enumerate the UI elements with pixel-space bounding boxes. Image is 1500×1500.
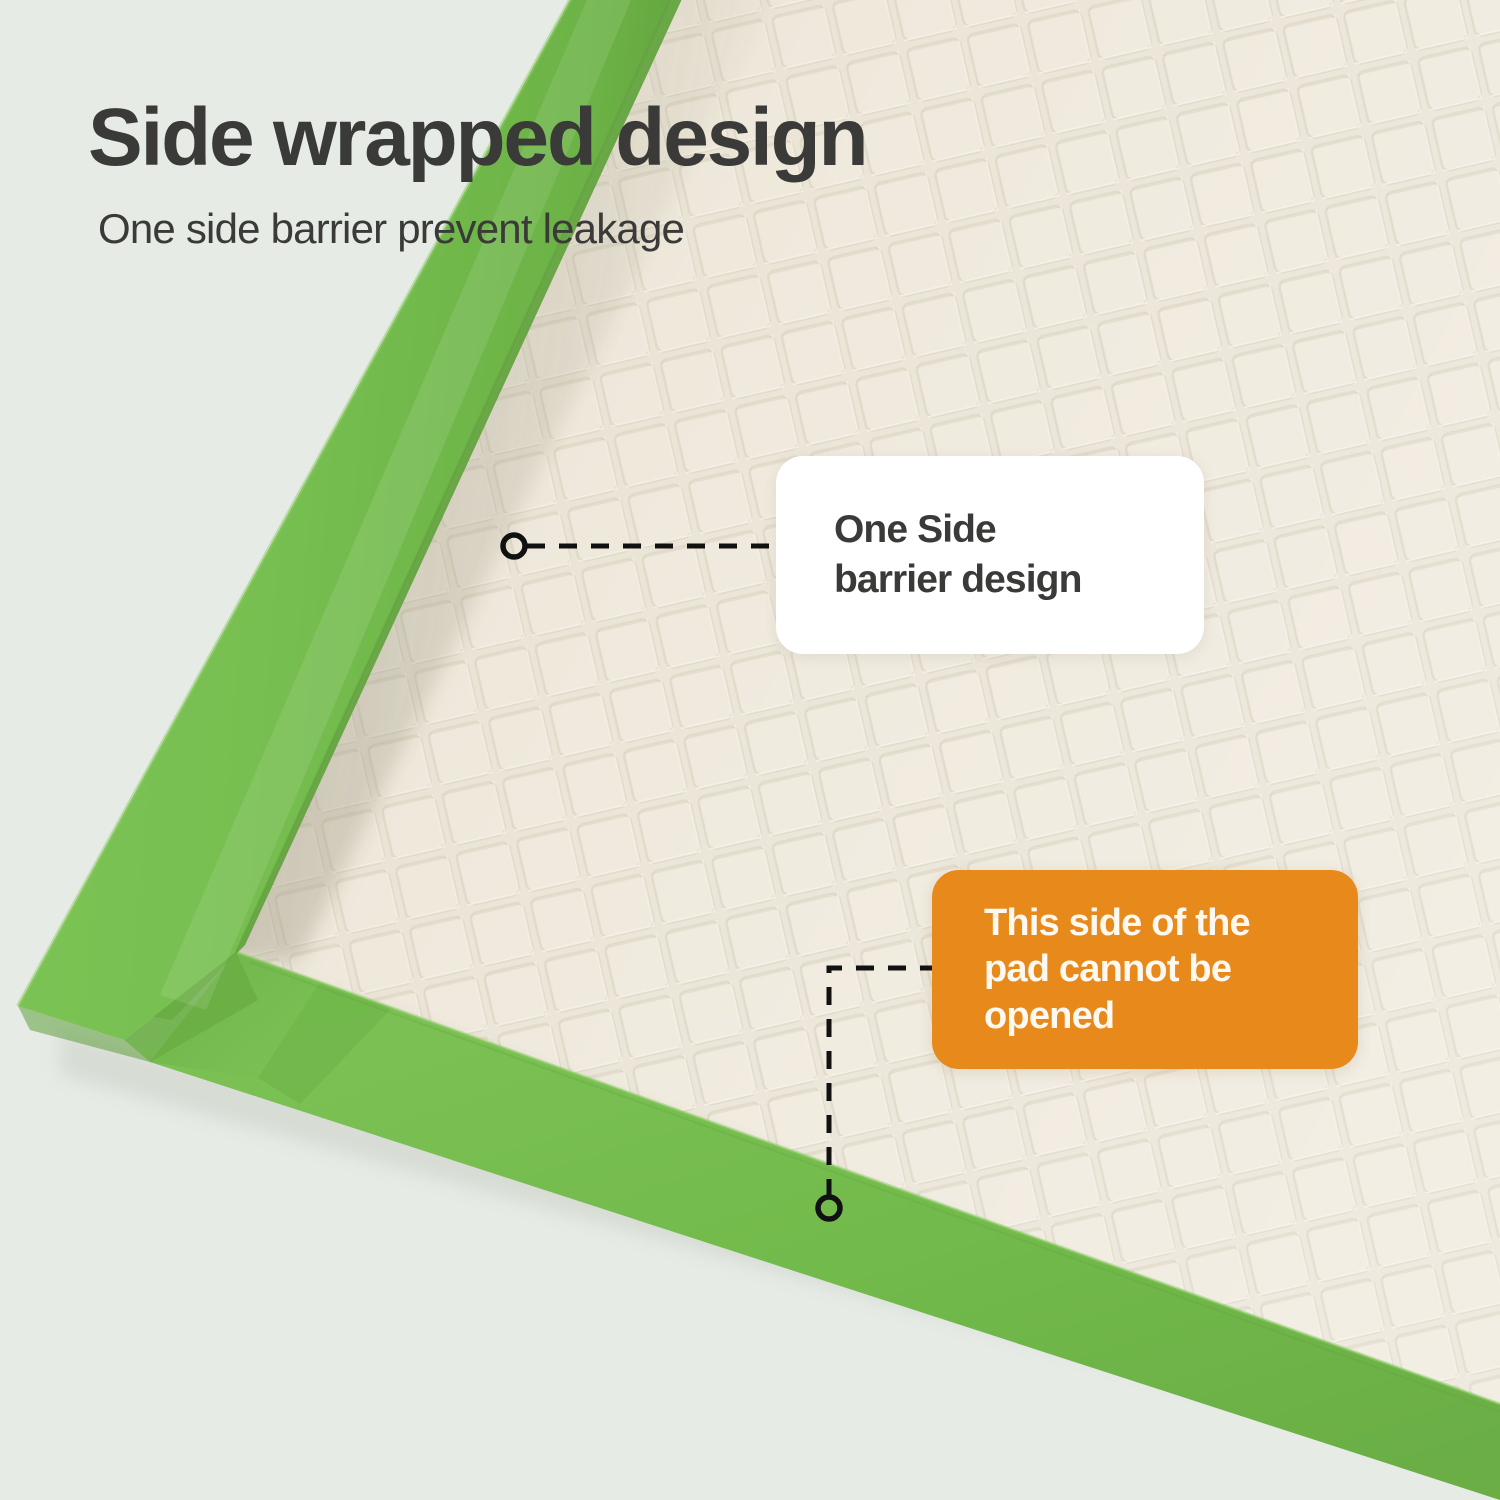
page-subtitle: One side barrier prevent leakage <box>98 206 866 252</box>
callout-line-2: pad cannot be <box>984 946 1358 992</box>
callout-line-1: This side of the <box>984 900 1358 946</box>
callout-one-side-barrier-design: One Side barrier design <box>776 456 1204 654</box>
callout-line-3: opened <box>984 993 1358 1039</box>
page-title: Side wrapped design <box>88 96 866 180</box>
callout-pad-cannot-be-opened: This side of the pad cannot be opened <box>932 870 1358 1069</box>
callout-line-2: barrier design <box>834 555 1204 605</box>
product-feature-image: Side wrapped design One side barrier pre… <box>0 0 1500 1500</box>
heading-block: Side wrapped design One side barrier pre… <box>88 96 866 252</box>
callout-line-1: One Side <box>834 505 1204 555</box>
